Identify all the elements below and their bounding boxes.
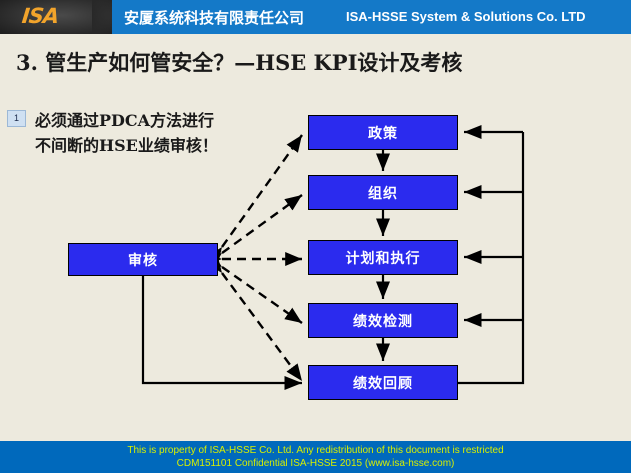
page-title: 3. 管生产如何管安全？—HSE KPI设计及考核 <box>16 47 462 77</box>
dashed-audit-review <box>222 273 302 381</box>
pdca-flow-diagram: 政策 组织 计划和执行 绩效检测 绩效回顾 审核 <box>0 95 631 425</box>
company-name-en: ISA-HSSE System & Solutions Co. LTD <box>346 9 586 24</box>
arrow-audit-to-review <box>143 276 302 383</box>
header-bar: ISA 安厦系统科技有限责任公司 ISA-HSSE System & Solut… <box>0 0 631 34</box>
company-name-cn: 安厦系统科技有限责任公司 <box>124 7 304 28</box>
dashed-audit-policy <box>222 135 302 247</box>
logo-block: ISA <box>0 0 112 34</box>
isa-logo-icon: ISA <box>21 4 60 28</box>
node-review[interactable]: 绩效回顾 <box>308 365 458 400</box>
node-plan[interactable]: 计划和执行 <box>308 240 458 275</box>
footer-line-1: This is property of ISA-HSSE Co. Ltd. An… <box>0 444 631 457</box>
node-org[interactable]: 组织 <box>308 175 458 210</box>
footer-bar: This is property of ISA-HSSE Co. Ltd. An… <box>0 441 631 473</box>
node-policy[interactable]: 政策 <box>308 115 458 150</box>
dashed-audit-monitor <box>222 267 302 323</box>
node-audit[interactable]: 审核 <box>68 243 218 276</box>
logo-fade-gradient <box>92 0 112 34</box>
dashed-audit-org <box>222 195 302 253</box>
footer-line-2: CDM151101 Confidential ISA-HSSE 2015 (ww… <box>0 457 631 470</box>
node-monitor[interactable]: 绩效检测 <box>308 303 458 338</box>
